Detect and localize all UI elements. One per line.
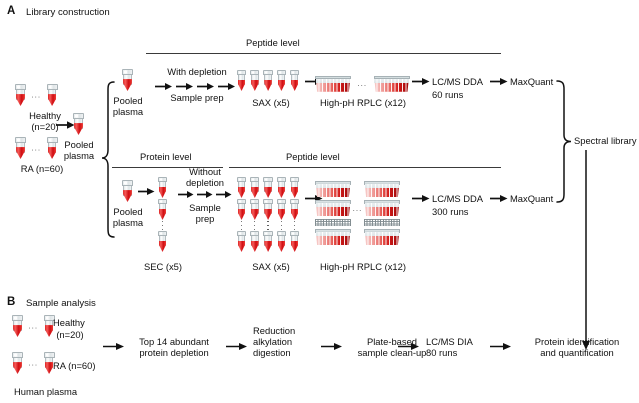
tube-icon xyxy=(276,177,287,198)
panelb-step-cleanup: Plate-based sample clean-up xyxy=(346,336,438,358)
arrow-branch1-ms-to-software xyxy=(490,76,508,87)
branch2-sax-row xyxy=(236,177,300,198)
plate-icon xyxy=(315,181,351,197)
tube-icon xyxy=(236,231,247,252)
tube-icon xyxy=(249,70,260,91)
step-line: Plate-based xyxy=(346,336,438,347)
step-line: 80 runs xyxy=(426,347,498,358)
tube-icon xyxy=(157,231,168,252)
spectral-library-label: Spectral library xyxy=(574,135,637,146)
tube-icon xyxy=(72,113,85,135)
branch1-ms-line2: 60 runs xyxy=(432,89,463,100)
branch1-sax-tubes xyxy=(236,70,300,91)
tube-icon xyxy=(14,84,27,106)
section-header-peptide-level-bottom: Peptide level xyxy=(286,151,340,162)
panelb-input-healthy-label-1: Healthy xyxy=(53,317,85,328)
tube-icon xyxy=(236,177,247,198)
tube-icon xyxy=(46,84,59,106)
figure-canvas: A Library construction Peptide level ...… xyxy=(0,0,639,403)
section-header-protein-level: Protein level xyxy=(140,151,192,162)
plate-icon xyxy=(364,229,400,245)
branch2-sec-label: SEC (x5) xyxy=(133,261,193,272)
arrow-panelb-4 xyxy=(398,341,420,352)
branch1-prep-arrows xyxy=(155,81,239,92)
merge-brace xyxy=(556,78,574,205)
ellipsis-horizontal: ... xyxy=(28,322,38,331)
panel-b-title: Sample analysis xyxy=(26,298,96,309)
branch2-sax-label: SAX (x5) xyxy=(232,261,310,272)
tube-icon xyxy=(14,137,27,159)
panelb-step-lcms-dia: LC/MS DIA 80 runs xyxy=(426,336,498,358)
section-rule-peptide-level-top xyxy=(146,53,501,54)
ellipsis-vertical xyxy=(249,221,260,230)
branch2-rplc-row xyxy=(315,229,400,245)
branch2-pooled-label-1: Pooled xyxy=(106,206,150,217)
pooled-plasma-main-tube xyxy=(72,113,85,140)
branch2-sec-tubes xyxy=(157,177,168,252)
branch2-ms-line2: 300 runs xyxy=(432,206,468,217)
tube-icon xyxy=(263,231,274,252)
pooled-plasma-main-label-1: Pooled xyxy=(59,139,99,150)
arrow-spectral-library-to-output xyxy=(580,150,592,352)
branch1-software-label: MaxQuant xyxy=(510,76,553,87)
step-line: Reduction xyxy=(253,325,321,336)
step-line: and quantification xyxy=(518,347,636,358)
ellipsis-horizontal: ... xyxy=(351,204,364,213)
branch1-prep-bottom-label: Sample prep xyxy=(152,92,242,103)
branch2-ms-line1: LC/MS DDA xyxy=(432,193,483,204)
tube-icon xyxy=(46,137,59,159)
tube-icon xyxy=(249,177,260,198)
tube-icon xyxy=(157,177,168,198)
ellipsis-horizontal: ... xyxy=(28,359,38,368)
panel-a-title: Library construction xyxy=(26,7,110,18)
panelb-step-output: Protein identification and quantificatio… xyxy=(518,336,636,358)
branch2-rplc-ellipsis-row xyxy=(315,219,400,226)
tube-icon xyxy=(289,199,300,220)
branch2-software-label: MaxQuant xyxy=(510,193,553,204)
arrow-branch1-rplc-to-ms xyxy=(412,76,430,87)
plate-icon xyxy=(374,76,410,92)
tube-icon xyxy=(11,315,24,337)
branch2-rplc-row: ... xyxy=(315,200,400,216)
step-line: alkylation xyxy=(253,336,321,347)
step-line: Protein identification xyxy=(518,336,636,347)
panel-a-letter: A xyxy=(7,5,15,17)
branch2-pooled-plasma-tube xyxy=(121,180,134,207)
step-line: digestion xyxy=(253,347,321,358)
branch2-prep-top-line2: depletion xyxy=(174,177,236,188)
branch1-pooled-label-2: plasma xyxy=(107,106,149,117)
plate-dots-icon xyxy=(315,219,351,226)
ellipsis-vertical xyxy=(162,221,163,230)
branch1-prep-top-label: With depletion xyxy=(152,66,242,77)
branch2-rplc-plates: ... xyxy=(315,181,400,245)
branch2-sax-row xyxy=(236,199,300,220)
panelb-step-depletion: Top 14 abundant protein depletion xyxy=(128,336,220,358)
branch2-sax-ellipsis-row xyxy=(236,221,300,230)
panelb-input-healthy-label-2: (n=20) xyxy=(48,329,92,340)
branch1-sax-label: SAX (x5) xyxy=(232,97,310,108)
plate-icon xyxy=(364,200,400,216)
branch2-sax-tubes xyxy=(236,177,300,252)
branch2-prep-arrows xyxy=(178,189,236,200)
tube-icon xyxy=(263,199,274,220)
ellipsis-horizontal: ... xyxy=(31,91,41,100)
ellipsis-vertical xyxy=(236,221,247,230)
tube-icon xyxy=(276,70,287,91)
branch2-prep-bottom-line1: Sample xyxy=(176,202,234,213)
panelb-input-caption: Human plasma xyxy=(14,386,77,397)
step-line: Top 14 abundant xyxy=(128,336,220,347)
ellipsis-horizontal: ... xyxy=(357,79,367,88)
step-line: sample clean-up xyxy=(346,347,438,358)
plate-icon xyxy=(364,181,400,197)
panelb-input-ra-tubes: ... xyxy=(11,352,56,374)
tube-icon xyxy=(289,231,300,252)
input-ra-label-1: RA (n=60) xyxy=(2,163,82,174)
arrow-branch2-pooled-to-sec xyxy=(138,186,155,197)
ellipsis-vertical xyxy=(289,221,300,230)
input-ra-tubes: ... xyxy=(14,137,59,159)
ellipsis-vertical xyxy=(276,221,287,230)
branch1-rplc-plates: ... xyxy=(315,75,410,93)
branch1-pooled-label-1: Pooled xyxy=(107,95,149,106)
tube-icon xyxy=(236,199,247,220)
input-healthy-tubes: ... xyxy=(14,84,59,106)
arrow-panelb-2 xyxy=(226,341,248,352)
tube-icon xyxy=(276,231,287,252)
arrow-panelb-1 xyxy=(103,341,125,352)
section-rule-peptide-level-bottom xyxy=(229,167,501,168)
arrow-panelb-5 xyxy=(490,341,512,352)
tube-icon xyxy=(11,352,24,374)
branch2-prep-bottom-line2: prep xyxy=(176,213,234,224)
tube-icon xyxy=(276,199,287,220)
step-line: protein depletion xyxy=(128,347,220,358)
tube-icon xyxy=(289,177,300,198)
pooled-plasma-main-label-2: plasma xyxy=(59,150,99,161)
tube-icon xyxy=(157,199,168,220)
tube-icon xyxy=(236,70,247,91)
tube-icon xyxy=(263,177,274,198)
branch2-prep-top-line1: Without xyxy=(176,166,234,177)
branch1-pooled-plasma-tube xyxy=(121,69,134,96)
section-header-peptide-level-top: Peptide level xyxy=(246,37,300,48)
arrow-branch2-rplc-to-ms xyxy=(412,193,430,204)
branch1-ms-line1: LC/MS DDA xyxy=(432,76,483,87)
tube-icon xyxy=(263,70,274,91)
step-line: LC/MS DIA xyxy=(426,336,498,347)
plate-dots-icon xyxy=(364,219,400,226)
panelb-step-reduction: Reduction alkylation digestion xyxy=(253,325,321,359)
branch2-rplc-row xyxy=(315,181,400,197)
plate-icon xyxy=(315,200,351,216)
tube-icon xyxy=(121,180,134,202)
tube-icon xyxy=(289,70,300,91)
arrow-branch2-ms-to-software xyxy=(490,193,508,204)
tube-icon xyxy=(121,69,134,91)
plate-icon xyxy=(315,76,351,92)
tube-icon xyxy=(249,231,260,252)
panelb-input-ra-label-1: RA (n=60) xyxy=(53,360,95,371)
ellipsis-vertical xyxy=(263,221,274,230)
tube-icon xyxy=(249,199,260,220)
branch2-pooled-label-2: plasma xyxy=(106,217,150,228)
ellipsis-horizontal: ... xyxy=(31,144,41,153)
arrow-panelb-3 xyxy=(321,341,343,352)
branch1-rplc-label: High-pH RPLC (x12) xyxy=(301,97,425,108)
branch2-sax-row xyxy=(236,231,300,252)
panel-b-letter: B xyxy=(7,296,15,308)
plate-icon xyxy=(315,229,351,245)
branch2-rplc-label: High-pH RPLC (x12) xyxy=(301,261,425,272)
